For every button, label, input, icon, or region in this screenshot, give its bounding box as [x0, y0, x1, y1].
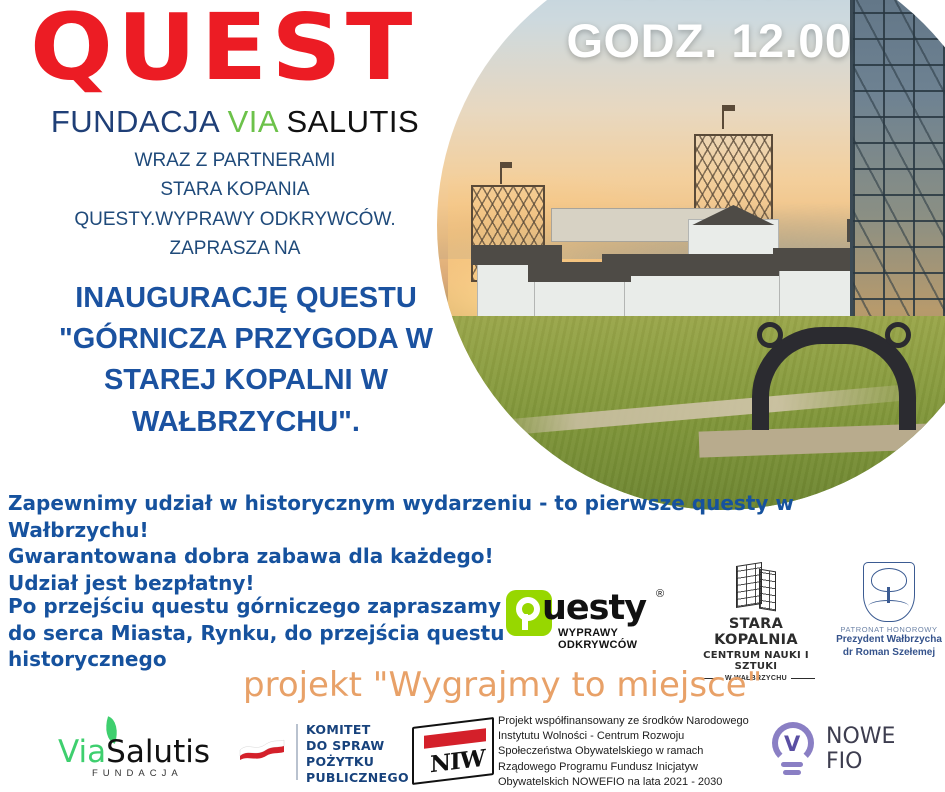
komitet-logo: KOMITET DO SPRAW POŻYTKU PUBLICZNEGO [238, 722, 388, 784]
via-salutis-logo: ViaSalutis FUNDACJA [58, 718, 228, 782]
questy-circle-icon [516, 597, 540, 621]
project-name: projekt "Wygrajmy to miejsce" [243, 665, 762, 705]
event-title: INAUGURACJĘ QUESTU "GÓRNICZA PRZYGODA W … [0, 278, 492, 443]
komitet-line-4: PUBLICZNEGO [306, 770, 409, 786]
body-p2-line-2: do serca Miasta, Rynku, do przejścia que… [8, 620, 508, 647]
polish-flag-icon [238, 738, 286, 760]
komitet-divider [296, 724, 298, 780]
partner-line-4: ZAPRASZA NA [0, 234, 470, 263]
event-title-line-3: STAREJ KOPALNI W [0, 360, 492, 401]
fio-v-icon: V [784, 732, 800, 756]
partner-line-1: WRAZ Z PARTNERAMI [0, 146, 470, 175]
flag-center-cloth [724, 105, 735, 111]
nowe-fio-line-2: FIO [826, 749, 895, 774]
komitet-line-1: KOMITET [306, 722, 409, 738]
roof-right-villa [773, 248, 859, 271]
bulb-base-lower-icon [783, 770, 801, 775]
via-salutis-salutis: Salutis [106, 734, 210, 770]
organizer-name: FUNDACJA VIA SALUTIS [0, 104, 470, 140]
event-title-line-2: "GÓRNICZA PRZYGODA W [0, 319, 492, 360]
poster: 18.12.2022 GODZ. 12.00 QUEST FUNDACJA VI… [0, 0, 945, 792]
page-title: QUEST [30, 2, 417, 94]
body-p2-line-1: Po przejściu questu górniczego zapraszam… [8, 593, 508, 620]
komitet-line-3: POŻYTKU [306, 754, 409, 770]
partner-line-2: STARA KOPANIA [0, 175, 470, 204]
via-salutis-via: Via [58, 734, 106, 770]
arch-knob-right [885, 322, 911, 348]
body-paragraph-1: Zapewnimy udział w historycznym wydarzen… [8, 490, 938, 596]
arch-knob-left [757, 322, 783, 348]
via-salutis-wordmark: ViaSalutis [58, 734, 210, 770]
partner-line-3: QUESTY.WYPRAWY ODKRYWCÓW. [0, 205, 470, 234]
via-salutis-sub: FUNDACJA [92, 768, 183, 779]
body-p1-line-2: Gwarantowana dobra zabawa dla każdego! [8, 543, 938, 570]
nowe-fio-wordmark: NOWE FIO [826, 724, 895, 775]
kopalnia-name: STARA KOPALNIA [692, 616, 820, 648]
organizer-partner-lines: WRAZ Z PARTNERAMI STARA KOPANIA QUESTY.W… [0, 146, 470, 264]
komitet-line-2: DO SPRAW [306, 738, 409, 754]
patronat-person-name: dr Roman Szełemej [833, 647, 945, 660]
event-title-line-1: INAUGURACJĘ QUESTU [0, 278, 492, 319]
niw-logo: NIW [412, 722, 494, 780]
patronat-person-title: Prezydent Wałbrzycha [833, 634, 945, 647]
divider-right [791, 678, 815, 679]
ground-line-icon [868, 600, 909, 613]
questy-tail-icon [522, 614, 528, 630]
organizer-word-via: VIA [228, 104, 278, 139]
funding-disclaimer: Projekt współfinansowany ze środków Naro… [498, 714, 760, 790]
event-title-line-4: WAŁBRZYCHU". [0, 402, 492, 443]
flag-left-cloth [502, 162, 512, 168]
body-p1-line-1: Zapewnimy udział w historycznym wydarzen… [8, 490, 938, 543]
organizer-word-fundacja: FUNDACJA [51, 104, 219, 139]
patronat-label: PATRONAT HONOROWY [833, 625, 945, 634]
nowe-fio-logo: V NOWE FIO [772, 722, 932, 784]
body-paragraph-2: Po przejściu questu górniczego zapraszam… [8, 593, 508, 673]
questy-tagline: WYPRAWY ODKRYWCÓW [558, 627, 678, 651]
roof-left-house-2 [528, 262, 631, 282]
organizer-word-salutis: SALUTIS [286, 104, 419, 139]
bulb-base-upper-icon [781, 762, 803, 767]
mine-arch-sculpture [752, 327, 916, 430]
mine-photo: 18.12.2022 GODZ. 12.00 [437, 0, 945, 510]
nowe-fio-line-1: NOWE [826, 724, 895, 749]
komitet-text: KOMITET DO SPRAW POŻYTKU PUBLICZNEGO [306, 722, 409, 786]
